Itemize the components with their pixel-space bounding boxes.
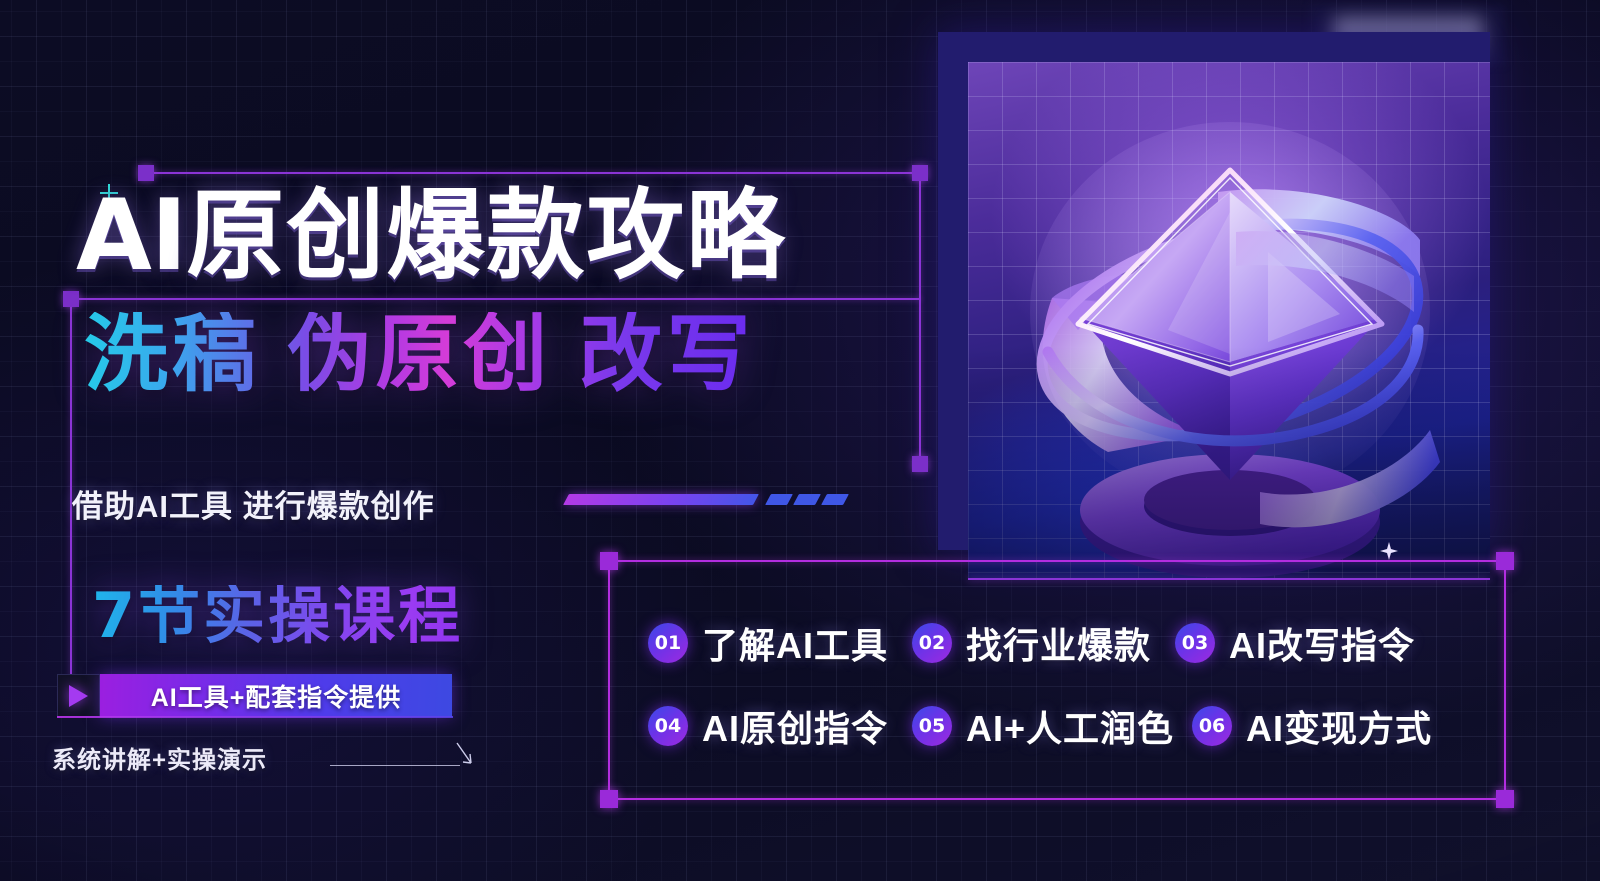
course-count-number: 7 — [92, 579, 138, 652]
curriculum-item-label: AI变现方式 — [1246, 700, 1432, 752]
frame-corner-square-ml — [63, 291, 79, 307]
curriculum-item[interactable]: 03 AI改写指令 — [1175, 617, 1415, 669]
outline-corner-tl — [600, 552, 618, 570]
artwork-3d-octahedron — [968, 62, 1490, 580]
footnote-rule — [330, 765, 460, 766]
curriculum-row-2: 04 AI原创指令 05 AI+人工润色 06 AI变现方式 — [648, 700, 1432, 752]
course-count-rest: 节实操课程 — [138, 582, 463, 651]
curriculum-outline-box — [608, 560, 1506, 800]
outline-corner-tr — [1496, 552, 1514, 570]
page-title: AI原创爆款攻略 — [76, 186, 786, 285]
curriculum-item[interactable]: 05 AI+人工润色 — [912, 700, 1174, 752]
curriculum-number-badge: 04 — [648, 706, 688, 746]
artwork-shading — [968, 62, 1490, 580]
footnote-text: 系统讲解+实操演示 — [52, 740, 267, 775]
outline-top — [616, 560, 1506, 562]
gradient-headline: 洗稿 伪原创 改写 — [84, 312, 755, 396]
decorative-dash-3 — [821, 494, 849, 505]
title-frame-top — [145, 172, 921, 174]
poster-canvas: AI原创爆款攻略 洗稿 伪原创 改写 借助AI工具 进行爆款创作 7节实操课程 … — [0, 0, 1600, 881]
decorative-bar — [563, 494, 759, 505]
outline-bottom — [616, 798, 1506, 800]
curriculum-item-label: 了解AI工具 — [702, 617, 888, 669]
offer-badge-underglow — [57, 716, 453, 718]
offer-badge-label: AI工具+配套指令提供 — [151, 678, 402, 714]
frame-corner-square-tr — [912, 165, 928, 181]
curriculum-item-label: AI改写指令 — [1229, 617, 1415, 669]
play-triangle-icon — [69, 685, 88, 707]
curriculum-number-badge: 02 — [912, 623, 952, 663]
curriculum-item-label: AI原创指令 — [702, 700, 888, 752]
descriptor-text: 借助AI工具 进行爆款创作 — [72, 481, 435, 526]
course-count: 7节实操课程 — [92, 585, 463, 648]
curriculum-row-1: 01 了解AI工具 02 找行业爆款 03 AI改写指令 — [648, 617, 1415, 669]
curriculum-number-badge: 01 — [648, 623, 688, 663]
outline-corner-br — [1496, 790, 1514, 808]
outline-corner-bl — [600, 790, 618, 808]
page-title-latin: AI — [76, 179, 186, 293]
curriculum-item-label: 找行业爆款 — [966, 617, 1151, 669]
decorative-dash-2 — [793, 494, 821, 505]
arrow-down-right-icon — [455, 741, 473, 767]
curriculum-number-badge: 05 — [912, 706, 952, 746]
curriculum-number-badge: 06 — [1192, 706, 1232, 746]
curriculum-item[interactable]: 06 AI变现方式 — [1192, 700, 1432, 752]
page-title-cjk: 原创爆款攻略 — [186, 180, 786, 290]
frame-corner-square-br — [912, 456, 928, 472]
offer-badge[interactable]: AI工具+配套指令提供 — [100, 674, 452, 717]
outline-left — [608, 568, 610, 800]
curriculum-item[interactable]: 04 AI原创指令 — [648, 700, 888, 752]
curriculum-number-badge: 03 — [1175, 623, 1215, 663]
curriculum-item[interactable]: 02 找行业爆款 — [912, 617, 1151, 669]
title-frame-middle — [70, 298, 921, 300]
curriculum-item-label: AI+人工润色 — [966, 700, 1174, 752]
curriculum-item[interactable]: 01 了解AI工具 — [648, 617, 888, 669]
sparkle-icon — [1380, 542, 1398, 560]
outline-right — [1504, 568, 1506, 800]
title-frame-right — [919, 172, 921, 464]
decorative-dash-1 — [765, 494, 793, 505]
play-button[interactable] — [57, 674, 100, 717]
